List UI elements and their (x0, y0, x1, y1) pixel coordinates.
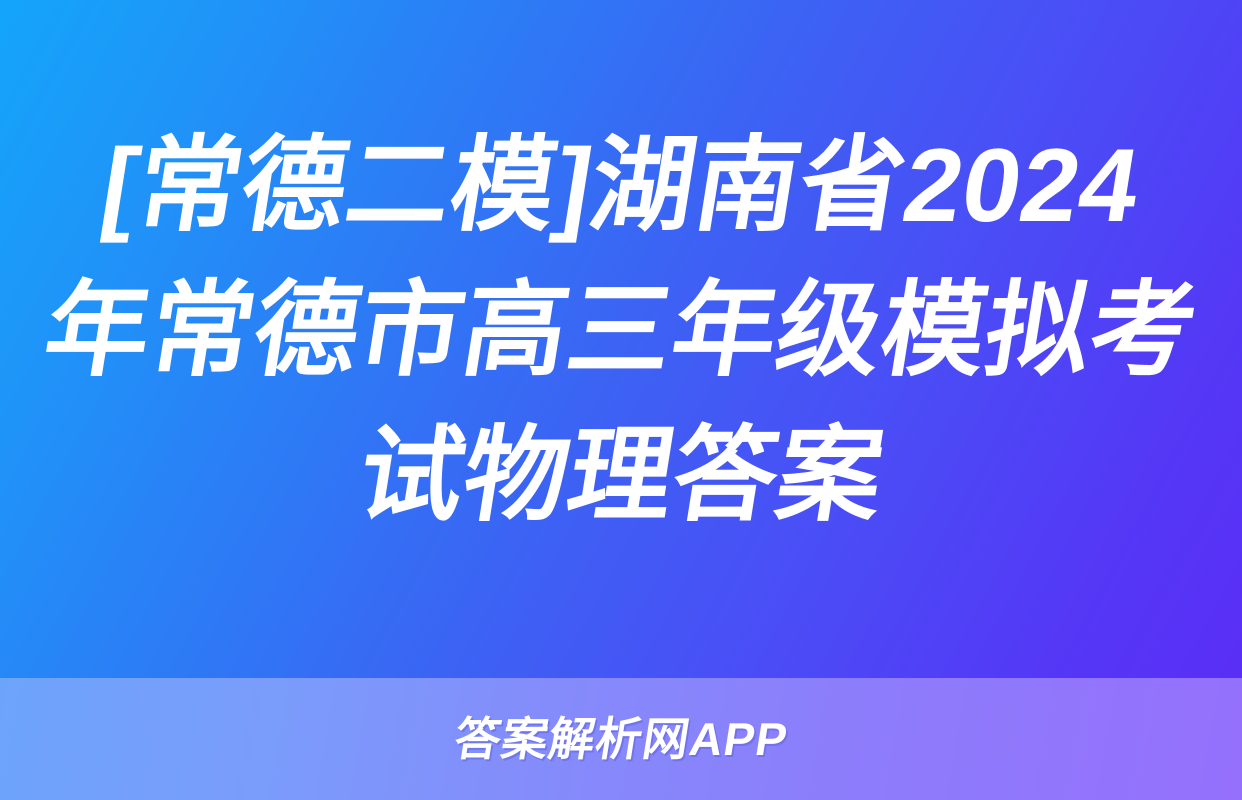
title-block: [常德二模]湖南省2024 年常德市高三年级模拟考 试物理答案 (0, 0, 1242, 678)
watermark-app-label: 答案解析网APP (451, 716, 791, 762)
poster-canvas: [常德二模]湖南省2024 年常德市高三年级模拟考 试物理答案 答案解析网APP (0, 0, 1242, 800)
title-line-3: 试物理答案 (348, 404, 893, 549)
title-line-1: [常德二模]湖南省2024 (92, 114, 1150, 259)
watermark-band: 答案解析网APP (0, 678, 1242, 800)
title-line-2: 年常德市高三年级模拟考 (35, 259, 1207, 404)
